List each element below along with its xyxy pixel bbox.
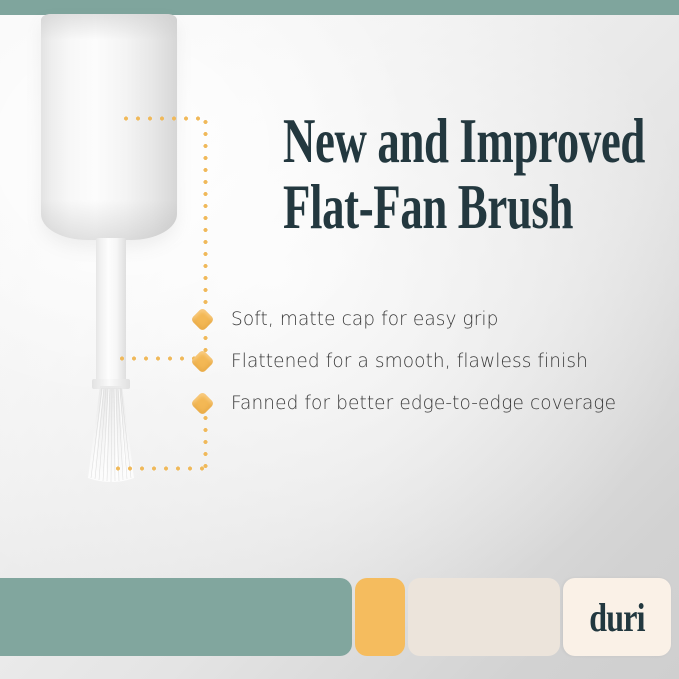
feature-label: Soft, matte cap for easy grip [231,309,499,330]
page-title: New and Improved Flat-Fan Brush [283,112,665,236]
diamond-bullet-icon [190,349,214,373]
color-segment-gold [355,578,405,656]
headline-line-2: Flat-Fan Brush [283,178,665,236]
bottom-color-bar: duri [0,578,679,656]
cap-top-shading [41,14,177,40]
brush-bristles-icon [76,386,146,486]
feature-label: Flattened for a smooth, flawless finish [231,351,588,372]
product-image [0,0,240,520]
cap-bottom-shading [41,200,177,240]
brand-logo-tile: duri [563,578,671,656]
feature-list: Soft, matte cap for easy grip Flattened … [190,298,660,424]
color-segment-teal [0,578,352,656]
headline-line-1: New and Improved [283,112,665,170]
list-item: Fanned for better edge-to-edge coverage [190,382,660,424]
connector-dotted-line-bottom [112,466,208,471]
diamond-bullet-icon [190,307,214,331]
list-item: Soft, matte cap for easy grip [190,298,660,340]
brand-logo-text: duri [574,578,660,656]
diamond-bullet-icon [190,391,214,415]
promo-banner: New and Improved Flat-Fan Brush Soft, ma… [0,0,679,679]
brush-handle-icon [96,238,126,388]
bottle-cap-icon [41,14,177,240]
connector-dotted-line-top [120,116,208,121]
feature-label: Fanned for better edge-to-edge coverage [231,393,616,414]
list-item: Flattened for a smooth, flawless finish [190,340,660,382]
color-segment-cream [408,578,560,656]
